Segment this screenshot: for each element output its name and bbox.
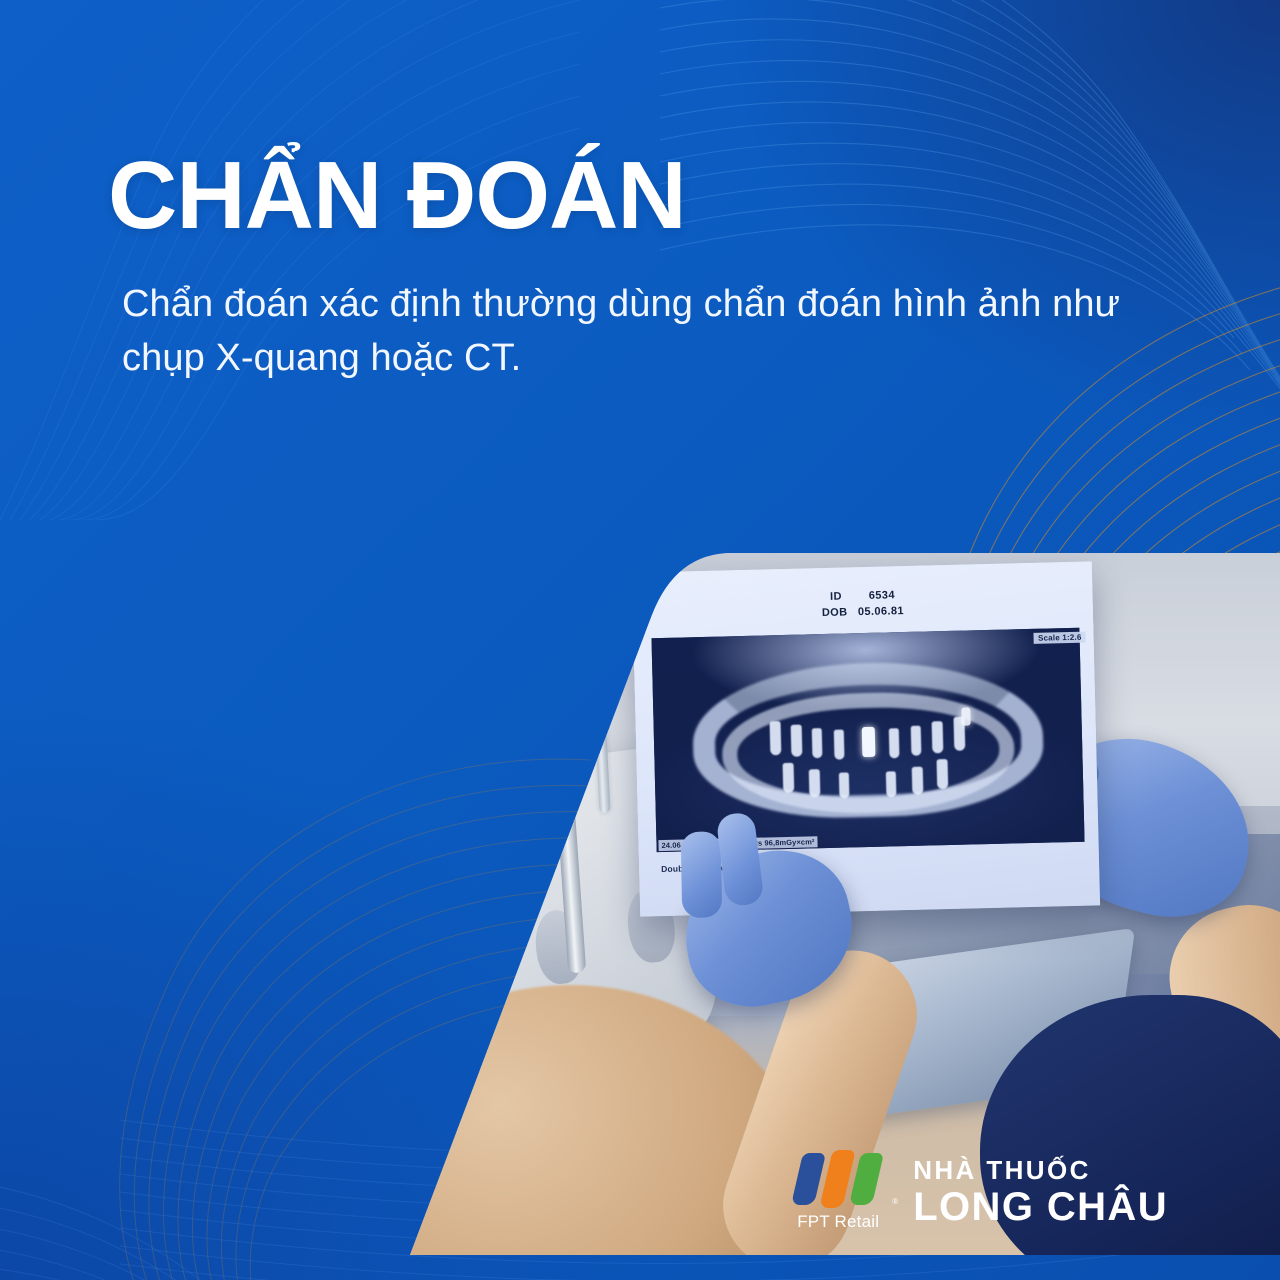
xray-id-label: ID <box>830 591 842 603</box>
instrument-hose <box>471 553 492 823</box>
brand-line-1: NHÀ THUỐC <box>913 1156 1168 1184</box>
brand-logo-lockup: ® FPT Retail NHÀ THUỐC LONG CHÂU <box>797 1153 1168 1232</box>
xray-panoramic-image <box>651 628 1084 852</box>
clinic-photo-image: ID 6534 DOB 05.06.81 <box>236 553 1280 1255</box>
dental-handpiece <box>352 798 389 959</box>
poster-canvas: CHẨN ĐOÁN Chẩn đoán xác định thường dùng… <box>0 0 1280 1280</box>
page-subtitle: Chẩn đoán xác định thường dùng chẩn đoán… <box>122 278 1192 386</box>
xray-implant-marker <box>861 727 875 757</box>
page-title: CHẨN ĐOÁN <box>108 148 1198 244</box>
instrument-hose <box>340 553 382 833</box>
fpt-retail-label: FPT Retail <box>797 1212 891 1232</box>
brand-line-2: LONG CHÂU <box>913 1186 1168 1229</box>
xray-patient-meta: ID 6534 DOB 05.06.81 <box>632 583 1093 626</box>
instrument-hose <box>584 553 610 813</box>
xray-scale-label: Scale 1:2.6 <box>1034 632 1086 644</box>
fpt-logo-bars-icon: ® <box>797 1153 891 1205</box>
xray-dob-value: 05.06.81 <box>858 605 904 618</box>
xray-dob-label: DOB <box>822 606 848 619</box>
brand-name: NHÀ THUỐC LONG CHÂU <box>913 1156 1168 1229</box>
headline-block: CHẨN ĐOÁN Chẩn đoán xác định thường dùng… <box>108 148 1198 386</box>
fpt-retail-logo: ® FPT Retail <box>797 1153 891 1232</box>
instrument-hose <box>403 553 437 853</box>
xray-id-value: 6534 <box>869 589 895 602</box>
clinic-photo: ID 6534 DOB 05.06.81 <box>236 553 1280 1255</box>
registered-trademark-icon: ® <box>892 1197 898 1206</box>
instrument-hose <box>533 553 550 843</box>
fpt-bar-green-icon <box>849 1153 884 1205</box>
